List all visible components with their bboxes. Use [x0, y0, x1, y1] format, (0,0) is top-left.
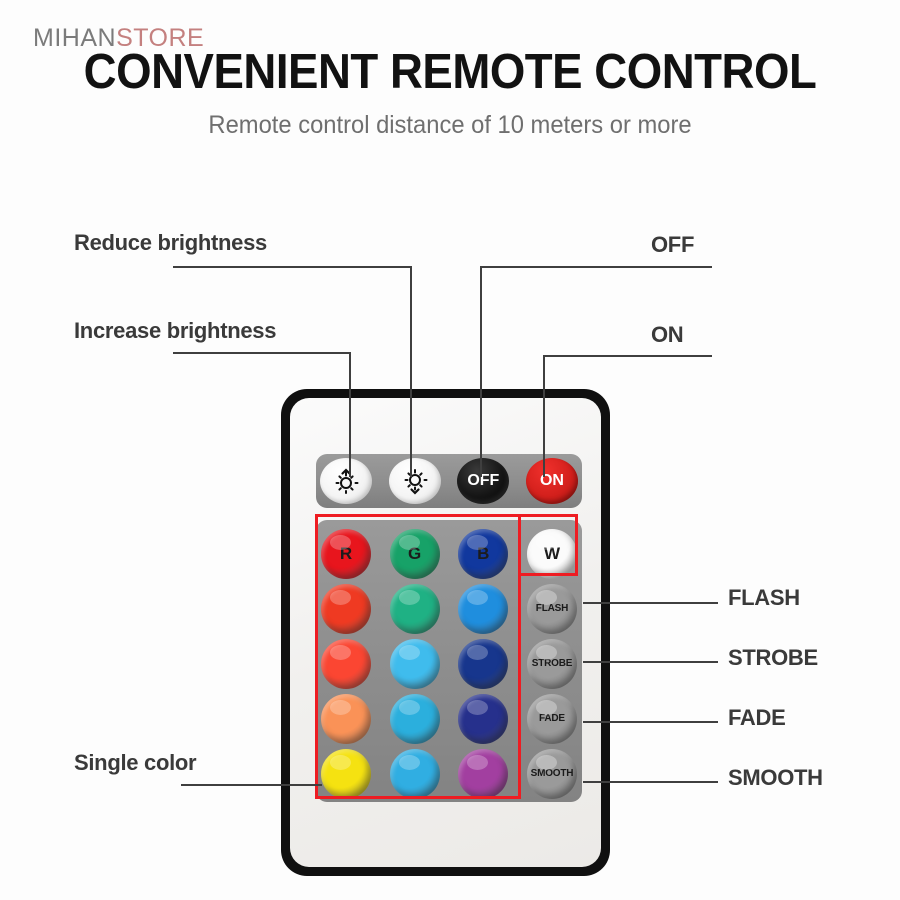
leader-flash-h [583, 602, 718, 604]
reduce-brightness-button[interactable] [389, 458, 441, 504]
watermark: MIHANSTORE [33, 24, 204, 53]
increase-brightness-button[interactable] [320, 458, 372, 504]
key-label: FADE [539, 713, 565, 724]
highlight-box-single-colors [315, 514, 521, 799]
leader-increase-h [173, 352, 351, 354]
leader-reduce-h [173, 266, 412, 268]
power-off-label: OFF [467, 472, 499, 490]
leader-off-h [480, 266, 712, 268]
key-flash[interactable]: FLASH [527, 584, 577, 634]
leader-on-h [543, 355, 712, 357]
page-root: MIHANSTORE CONVENIENT REMOTE CONTROL Rem… [0, 0, 900, 900]
watermark-brand-first: MIHAN [33, 24, 116, 52]
highlight-box-step [518, 573, 578, 576]
callout-fade: FADE [728, 705, 785, 731]
watermark-brand-second: STORE [116, 24, 204, 52]
leader-strobe-h [583, 661, 718, 663]
page-subtitle: Remote control distance of 10 meters or … [23, 111, 878, 140]
leader-reduce-v [410, 266, 412, 477]
leader-increase-v [349, 352, 351, 477]
leader-fade-h [583, 721, 718, 723]
key-smooth[interactable]: SMOOTH [527, 749, 577, 799]
callout-flash: FLASH [728, 585, 800, 611]
sun-down-icon [400, 466, 430, 496]
key-strobe[interactable]: STROBE [527, 639, 577, 689]
power-on-button[interactable]: ON [526, 458, 578, 504]
callout-strobe: STROBE [728, 645, 818, 671]
leader-off-v [480, 266, 482, 477]
callout-off: OFF [651, 232, 694, 258]
callout-single-color: Single color [74, 750, 196, 776]
callout-reduce-brightness: Reduce brightness [74, 230, 267, 256]
leader-smooth-h [583, 781, 718, 783]
leader-single-color-h [181, 784, 322, 786]
key-label: STROBE [532, 658, 572, 669]
key-label: SMOOTH [531, 768, 574, 779]
key-fade[interactable]: FADE [527, 694, 577, 744]
callout-on: ON [651, 322, 683, 348]
callout-smooth: SMOOTH [728, 765, 823, 791]
key-label: FLASH [536, 603, 568, 614]
power-off-button[interactable]: OFF [457, 458, 509, 504]
leader-on-v [543, 355, 545, 477]
callout-increase-brightness: Increase brightness [74, 318, 276, 344]
sun-up-icon [331, 466, 361, 496]
